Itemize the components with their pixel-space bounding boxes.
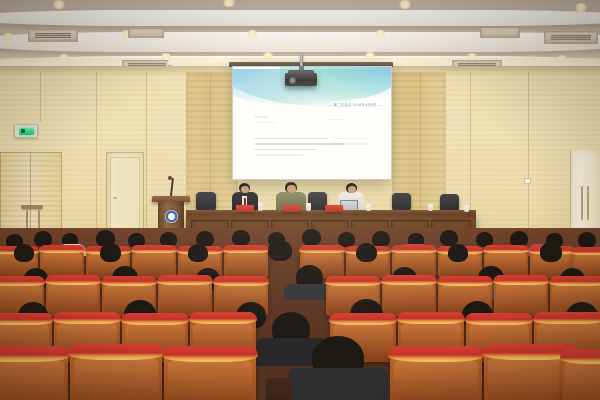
exit-sign bbox=[14, 124, 38, 138]
auditorium-seat[interactable] bbox=[158, 277, 212, 316]
slide-text-line bbox=[254, 122, 276, 124]
attendee-head bbox=[188, 244, 208, 262]
slide-text-line bbox=[328, 119, 345, 121]
stage-chair[interactable] bbox=[392, 193, 411, 210]
podium-emblem-icon bbox=[165, 210, 178, 223]
water-cup bbox=[428, 204, 433, 211]
downlight bbox=[556, 55, 568, 63]
attendee-head bbox=[100, 243, 121, 262]
door-handle[interactable] bbox=[581, 186, 583, 220]
projector bbox=[285, 73, 317, 86]
slide-text-line bbox=[255, 138, 328, 140]
downlight bbox=[222, 0, 236, 7]
water-cup bbox=[258, 203, 263, 211]
door-handle[interactable] bbox=[113, 197, 117, 199]
slide-text-line bbox=[254, 116, 268, 118]
ceiling-ac-vent bbox=[544, 31, 598, 44]
wall-switch-plate[interactable] bbox=[524, 178, 531, 184]
attendee-head bbox=[232, 230, 250, 246]
slide-text-line bbox=[255, 143, 343, 145]
attendee-head bbox=[448, 244, 468, 262]
slide-text-line bbox=[255, 149, 315, 151]
person-face bbox=[241, 186, 249, 193]
auditorium-seat[interactable] bbox=[390, 350, 482, 400]
ceiling-band-1 bbox=[0, 10, 600, 26]
attendee-head bbox=[268, 240, 292, 261]
ceiling-ac-vent bbox=[480, 27, 520, 38]
auditorium-seat[interactable] bbox=[132, 247, 176, 278]
auditorium-seat[interactable] bbox=[46, 277, 100, 316]
stage-chair[interactable] bbox=[196, 192, 216, 210]
water-cup bbox=[366, 204, 371, 211]
attendee-head bbox=[302, 229, 321, 246]
projector-lens-icon bbox=[289, 77, 296, 84]
wall-seam bbox=[40, 72, 41, 122]
downlight bbox=[574, 3, 588, 12]
podium-microphone bbox=[168, 176, 172, 180]
ceiling-ac-vent bbox=[128, 28, 164, 38]
water-cup bbox=[306, 203, 311, 211]
auditorium-seat[interactable] bbox=[494, 277, 548, 316]
auditorium-seat[interactable] bbox=[164, 350, 256, 400]
attendee-head bbox=[14, 244, 34, 262]
attendee-head bbox=[578, 232, 596, 248]
ceiling-ac-vent bbox=[28, 29, 78, 42]
auditorium-seat[interactable] bbox=[382, 277, 436, 316]
attendee-head bbox=[540, 242, 562, 262]
auditorium-seat[interactable] bbox=[0, 350, 68, 400]
attendee-head bbox=[372, 231, 390, 247]
attendee-head bbox=[356, 243, 377, 262]
downlight bbox=[398, 0, 412, 9]
water-cup bbox=[464, 205, 469, 212]
slide-text-line bbox=[334, 138, 362, 139]
downlight bbox=[52, 0, 66, 9]
downlight bbox=[262, 52, 274, 60]
person-face bbox=[287, 185, 296, 193]
downlight bbox=[374, 30, 387, 38]
nameplate bbox=[283, 205, 301, 212]
auditorium-seat[interactable] bbox=[224, 247, 268, 278]
downlight bbox=[58, 54, 70, 62]
downlight bbox=[246, 30, 259, 38]
downlight bbox=[2, 33, 14, 41]
conference-hall-photo: — 第二次会议 2016年4月8日 — bbox=[0, 0, 600, 400]
wall-seam bbox=[96, 72, 97, 244]
person-face bbox=[348, 186, 356, 193]
nameplate bbox=[236, 205, 254, 212]
aisle-floor bbox=[266, 378, 292, 400]
wall-seam bbox=[528, 72, 529, 244]
audience-seating bbox=[0, 228, 600, 400]
slide-text-line bbox=[334, 143, 369, 144]
downlight bbox=[364, 52, 376, 60]
wall-seam bbox=[146, 72, 147, 244]
auditorium-seat[interactable] bbox=[562, 352, 600, 400]
attendee-shoulders bbox=[288, 368, 388, 400]
nameplate bbox=[325, 205, 343, 212]
door-handle[interactable] bbox=[587, 186, 589, 220]
slide-header-text: — 第二次会议 2016年4月8日 — bbox=[329, 102, 382, 107]
wall-seam bbox=[420, 72, 421, 220]
auditorium-seat[interactable] bbox=[70, 348, 162, 400]
stage-chair[interactable] bbox=[440, 194, 459, 211]
slide-text-line bbox=[255, 154, 302, 155]
